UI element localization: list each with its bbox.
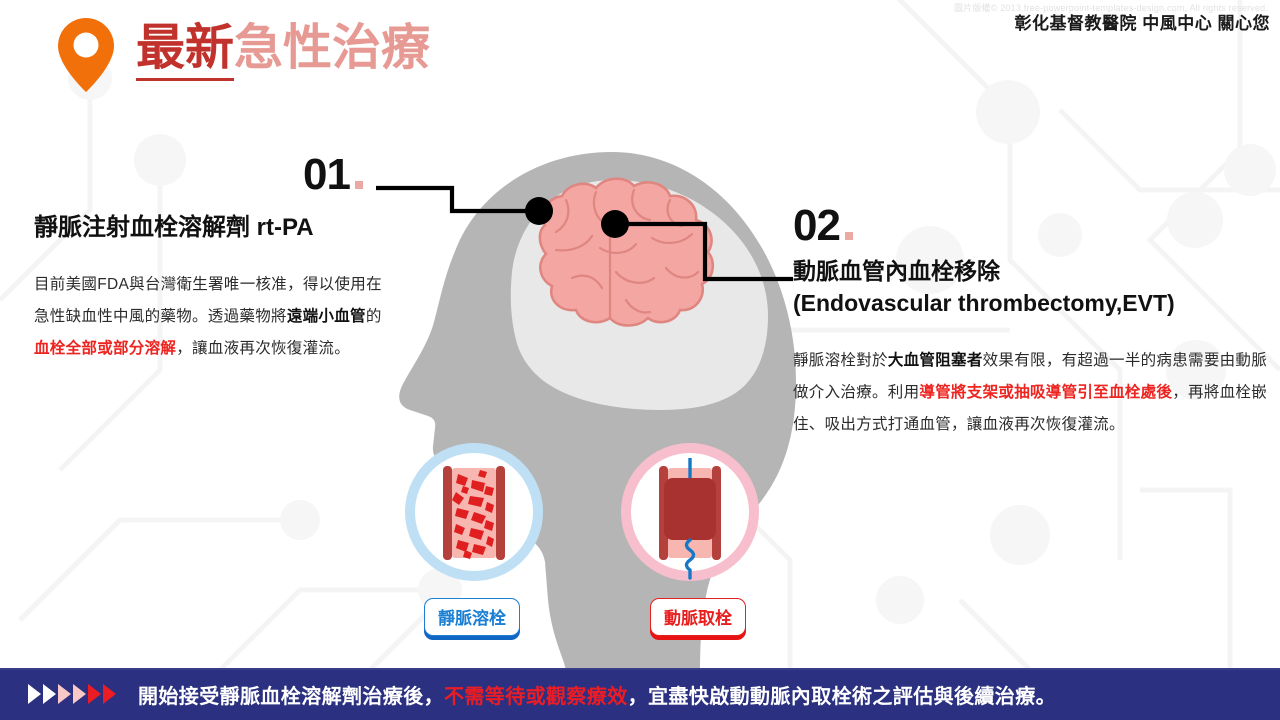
circle-iv-thrombolysis xyxy=(410,448,538,576)
section-01-body-red: 血栓全部或部分溶解 xyxy=(34,340,176,357)
section-02-heading-cn: 動脈血管內血栓移除 xyxy=(793,258,1000,284)
section-number-02-dot xyxy=(845,232,853,240)
banner-arrow-icon xyxy=(103,684,116,704)
bottom-banner: 開始接受靜脈血栓溶解劑治療後，不需等待或觀察療效，宜盡快啟動動脈內取栓術之評估與… xyxy=(0,668,1280,720)
hospital-org-line: 彰化基督教醫院 中風中心 關心您 xyxy=(1015,9,1270,34)
section-01-body: 目前美國FDA與台灣衛生署唯一核准，得以使用在急性缺血性中風的藥物。透過藥物將遠… xyxy=(34,269,384,364)
brain-marker-dot-icon xyxy=(601,210,629,238)
banner-arrow-icon xyxy=(28,684,41,704)
section-02-body-bold: 大血管阻塞者 xyxy=(888,352,983,369)
connector-line-01 xyxy=(376,188,539,211)
section-number-02-text: 02 xyxy=(793,201,840,250)
circle-evt-thrombectomy xyxy=(626,448,754,578)
dissolved-clot-vessel-icon xyxy=(443,466,505,560)
section-02-body-red: 導管將支架或抽吸導管引至血栓處後 xyxy=(919,384,1172,401)
brain-icon xyxy=(540,179,713,326)
banner-message-red: 不需等待或觀察療效 xyxy=(444,686,628,708)
section-02-body-part1: 靜脈溶栓對於 xyxy=(793,352,888,369)
brain-marker-dot-icon xyxy=(525,197,553,225)
section-02-body: 靜脈溶栓對於大血管阻塞者效果有限，有超過一半的病患需要由動脈做介入治療。利用導管… xyxy=(793,345,1275,440)
banner-arrow-icon xyxy=(88,684,101,704)
banner-message-part2: ，宜盡快啟動動脈內取栓術之評估與後續治療。 xyxy=(628,686,1056,708)
section-01-heading: 靜脈注射血栓溶解劑 rt-PA xyxy=(34,213,384,243)
section-02-block: 動脈血管內血栓移除(Endovascular thrombectomy,EVT)… xyxy=(793,255,1275,456)
section-number-01-text: 01 xyxy=(303,150,350,199)
banner-arrow-icon xyxy=(73,684,86,704)
page-title: 最新急性治療 xyxy=(136,24,430,73)
section-01-body-part2: 的 xyxy=(366,308,382,325)
location-pin-icon xyxy=(55,16,117,94)
page-title-highlight: 最新 xyxy=(136,21,234,81)
section-01-block: 靜脈注射血栓溶解劑 rt-PA 目前美國FDA與台灣衛生署唯一核准，得以使用在急… xyxy=(34,213,384,380)
slide-canvas: 圖片版權© 2013 free-powerpoint-templates-des… xyxy=(0,0,1280,720)
banner-arrow-icon xyxy=(43,684,56,704)
page-title-rest: 急性治療 xyxy=(234,21,430,75)
banner-arrow-icon xyxy=(58,684,71,704)
section-02-heading: 動脈血管內血栓移除(Endovascular thrombectomy,EVT) xyxy=(793,255,1275,319)
section-01-body-part3: ，讓血液再次恢復灌流。 xyxy=(176,340,350,357)
thrombectomy-stent-vessel-icon xyxy=(659,458,721,578)
banner-message: 開始接受靜脈血栓溶解劑治療後，不需等待或觀察療效，宜盡快啟動動脈內取栓術之評估與… xyxy=(138,680,1056,709)
section-number-01-dot xyxy=(355,181,363,189)
section-01-body-bold: 遠端小血管 xyxy=(287,308,366,325)
connector-line-02 xyxy=(615,224,793,279)
section-number-02: 02 xyxy=(793,204,853,248)
section-number-01: 01 xyxy=(303,153,363,197)
section-02-heading-en: (Endovascular thrombectomy,EVT) xyxy=(793,290,1175,316)
head-silhouette-icon xyxy=(399,152,796,672)
banner-arrow-group xyxy=(28,684,116,704)
badge-evt-thrombectomy[interactable]: 動脈取栓 xyxy=(650,598,746,636)
badge-iv-thrombolysis[interactable]: 靜脈溶栓 xyxy=(424,598,520,636)
banner-message-part1: 開始接受靜脈血栓溶解劑治療後， xyxy=(138,686,444,708)
